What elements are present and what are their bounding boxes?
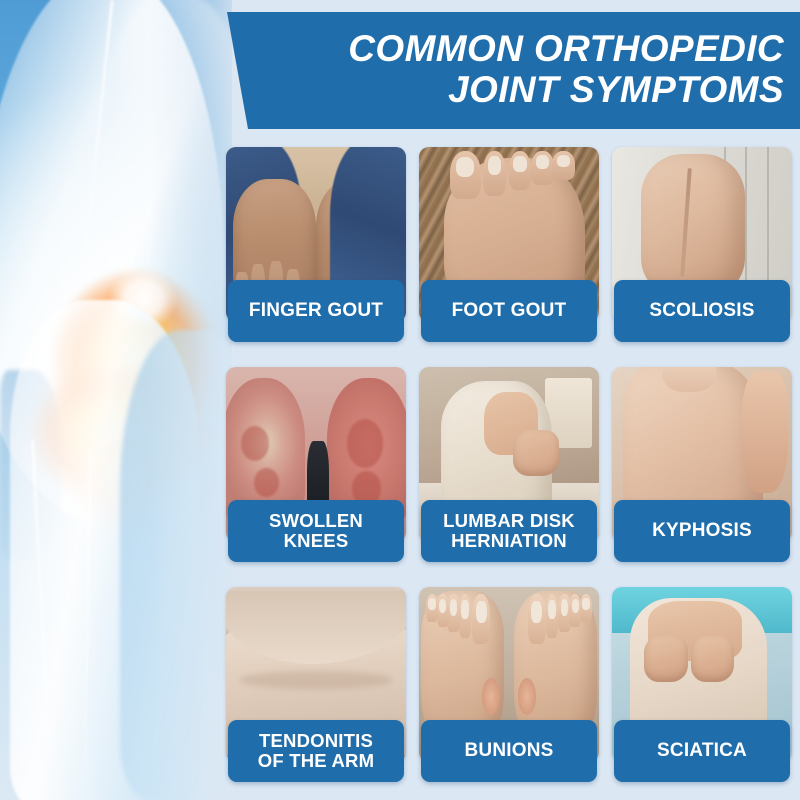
symptom-label-finger-gout: FINGER GOUT <box>228 280 404 342</box>
symptom-label-text: FOOT GOUT <box>448 301 571 322</box>
symptom-label-scoliosis: SCOLIOSIS <box>614 280 790 342</box>
symptom-label-bunions: BUNIONS <box>421 720 597 782</box>
symptom-card-lumbar-disk-herniation[interactable]: LUMBAR DISK HERNIATION <box>419 367 599 562</box>
symptom-label-foot-gout: FOOT GOUT <box>421 280 597 342</box>
symptom-label-lumbar-disk-herniation: LUMBAR DISK HERNIATION <box>421 500 597 562</box>
symptom-card-swollen-knees[interactable]: SWOLLEN KNEES <box>226 367 406 562</box>
symptom-label-text: SCIATICA <box>653 741 751 762</box>
page-title-line-1: COMMON ORTHOPEDIC <box>348 29 784 69</box>
symptom-label-swollen-knees: SWOLLEN KNEES <box>228 500 404 562</box>
symptom-label-text: SWOLLEN KNEES <box>265 511 367 551</box>
symptom-card-tendonitis-of-the-arm[interactable]: TENDONITIS OF THE ARM <box>226 587 406 782</box>
symptom-label-text: FINGER GOUT <box>245 301 387 322</box>
symptom-card-foot-gout[interactable]: FOOT GOUT <box>419 147 599 342</box>
symptom-label-text: KYPHOSIS <box>648 521 756 542</box>
symptom-label-text: LUMBAR DISK HERNIATION <box>439 511 579 551</box>
symptom-card-grid: FINGER GOUT FOOT GOUT <box>226 147 792 787</box>
symptom-label-text: SCOLIOSIS <box>645 301 758 322</box>
title-banner: COMMON ORTHOPEDIC JOINT SYMPTOMS <box>222 12 800 129</box>
symptom-label-text: TENDONITIS OF THE ARM <box>254 731 378 771</box>
symptom-card-finger-gout[interactable]: FINGER GOUT <box>226 147 406 342</box>
symptom-label-text: BUNIONS <box>460 741 557 762</box>
symptom-card-kyphosis[interactable]: KYPHOSIS <box>612 367 792 562</box>
symptom-label-sciatica: SCIATICA <box>614 720 790 782</box>
symptom-label-kyphosis: KYPHOSIS <box>614 500 790 562</box>
symptom-card-bunions[interactable]: BUNIONS <box>419 587 599 782</box>
symptom-card-scoliosis[interactable]: SCOLIOSIS <box>612 147 792 342</box>
symptom-label-tendonitis-of-the-arm: TENDONITIS OF THE ARM <box>228 720 404 782</box>
page-title-line-2: JOINT SYMPTOMS <box>448 70 784 110</box>
infographic-page: COMMON ORTHOPEDIC JOINT SYMPTOMS <box>0 0 800 800</box>
symptom-card-sciatica[interactable]: SCIATICA <box>612 587 792 782</box>
